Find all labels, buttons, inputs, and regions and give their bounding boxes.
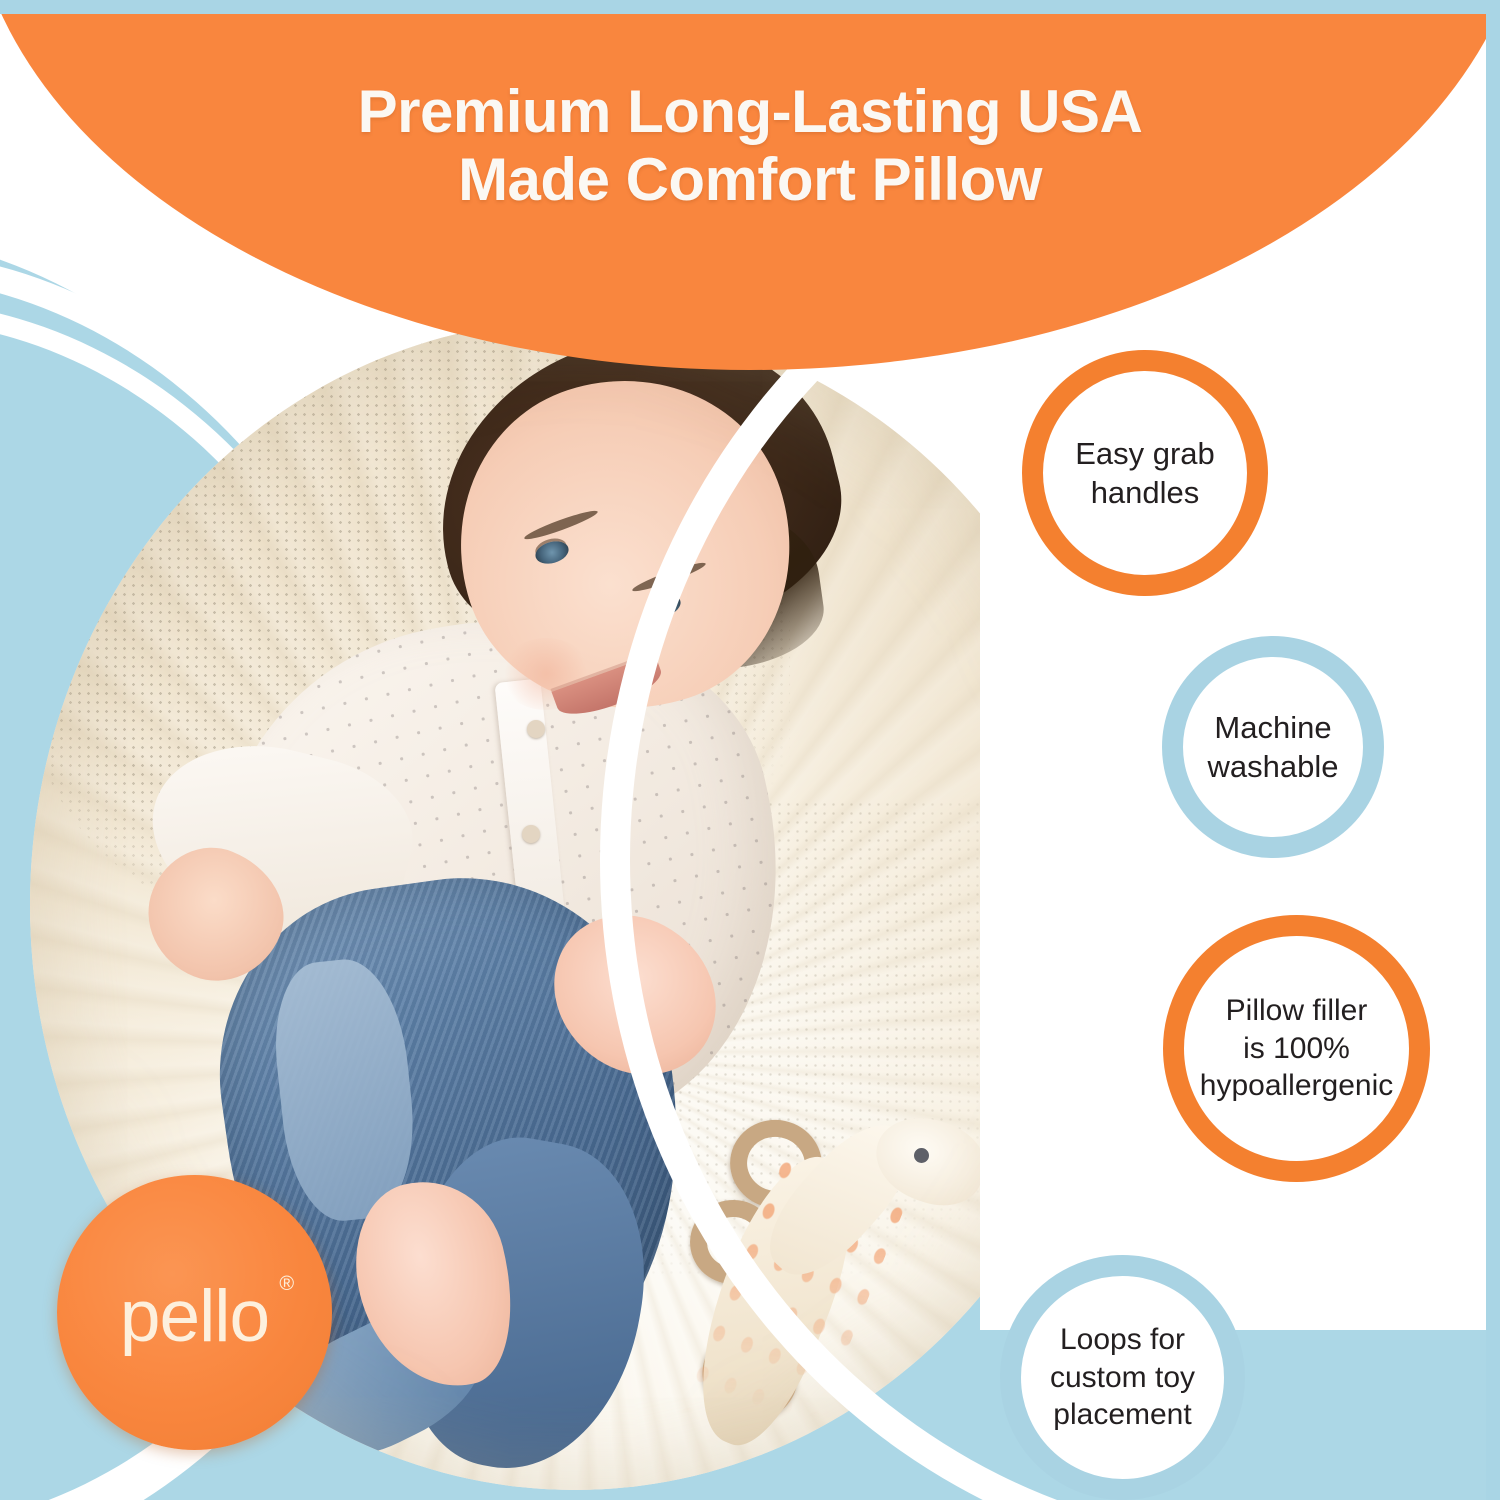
callout-text: Pillow filler is 100% hypoallergenic — [1184, 992, 1409, 1105]
brand-name: pello — [120, 1276, 269, 1357]
border-top-blue — [0, 0, 1500, 14]
page-title: Premium Long-Lasting USA Made Comfort Pi… — [0, 78, 1500, 215]
page-title-line-2: Made Comfort Pillow — [150, 146, 1350, 214]
callout-text: Loops for custom toy placement — [1034, 1321, 1211, 1434]
callout-line: hypoallergenic — [1200, 1067, 1393, 1105]
callout-line: is 100% — [1200, 1030, 1393, 1068]
callout-line: custom toy — [1050, 1359, 1195, 1397]
callout-text: Easy grab handles — [1059, 434, 1231, 512]
pello-wordmark: pello ® — [120, 1280, 269, 1353]
callout-toy-loops[interactable]: Loops for custom toy placement — [1000, 1255, 1245, 1500]
pello-logo-badge[interactable]: pello ® — [57, 1175, 332, 1450]
border-right-blue — [1486, 0, 1500, 1500]
callout-machine-washable[interactable]: Machine washable — [1162, 636, 1384, 858]
page-title-line-1: Premium Long-Lasting USA — [150, 78, 1350, 146]
callout-easy-grab-handles[interactable]: Easy grab handles — [1022, 350, 1268, 596]
product-infographic: Premium Long-Lasting USA Made Comfort Pi… — [0, 0, 1500, 1500]
callout-line: placement — [1050, 1396, 1195, 1434]
callout-line: washable — [1208, 747, 1339, 786]
callout-hypoallergenic-filler[interactable]: Pillow filler is 100% hypoallergenic — [1163, 915, 1430, 1182]
callout-text: Machine washable — [1192, 708, 1355, 786]
callout-line: Machine — [1208, 708, 1339, 747]
registered-trademark-icon: ® — [279, 1274, 293, 1294]
callout-line: handles — [1075, 473, 1215, 512]
callout-line: Pillow filler — [1200, 992, 1393, 1030]
callout-line: Loops for — [1050, 1321, 1195, 1359]
callout-line: Easy grab — [1075, 434, 1215, 473]
